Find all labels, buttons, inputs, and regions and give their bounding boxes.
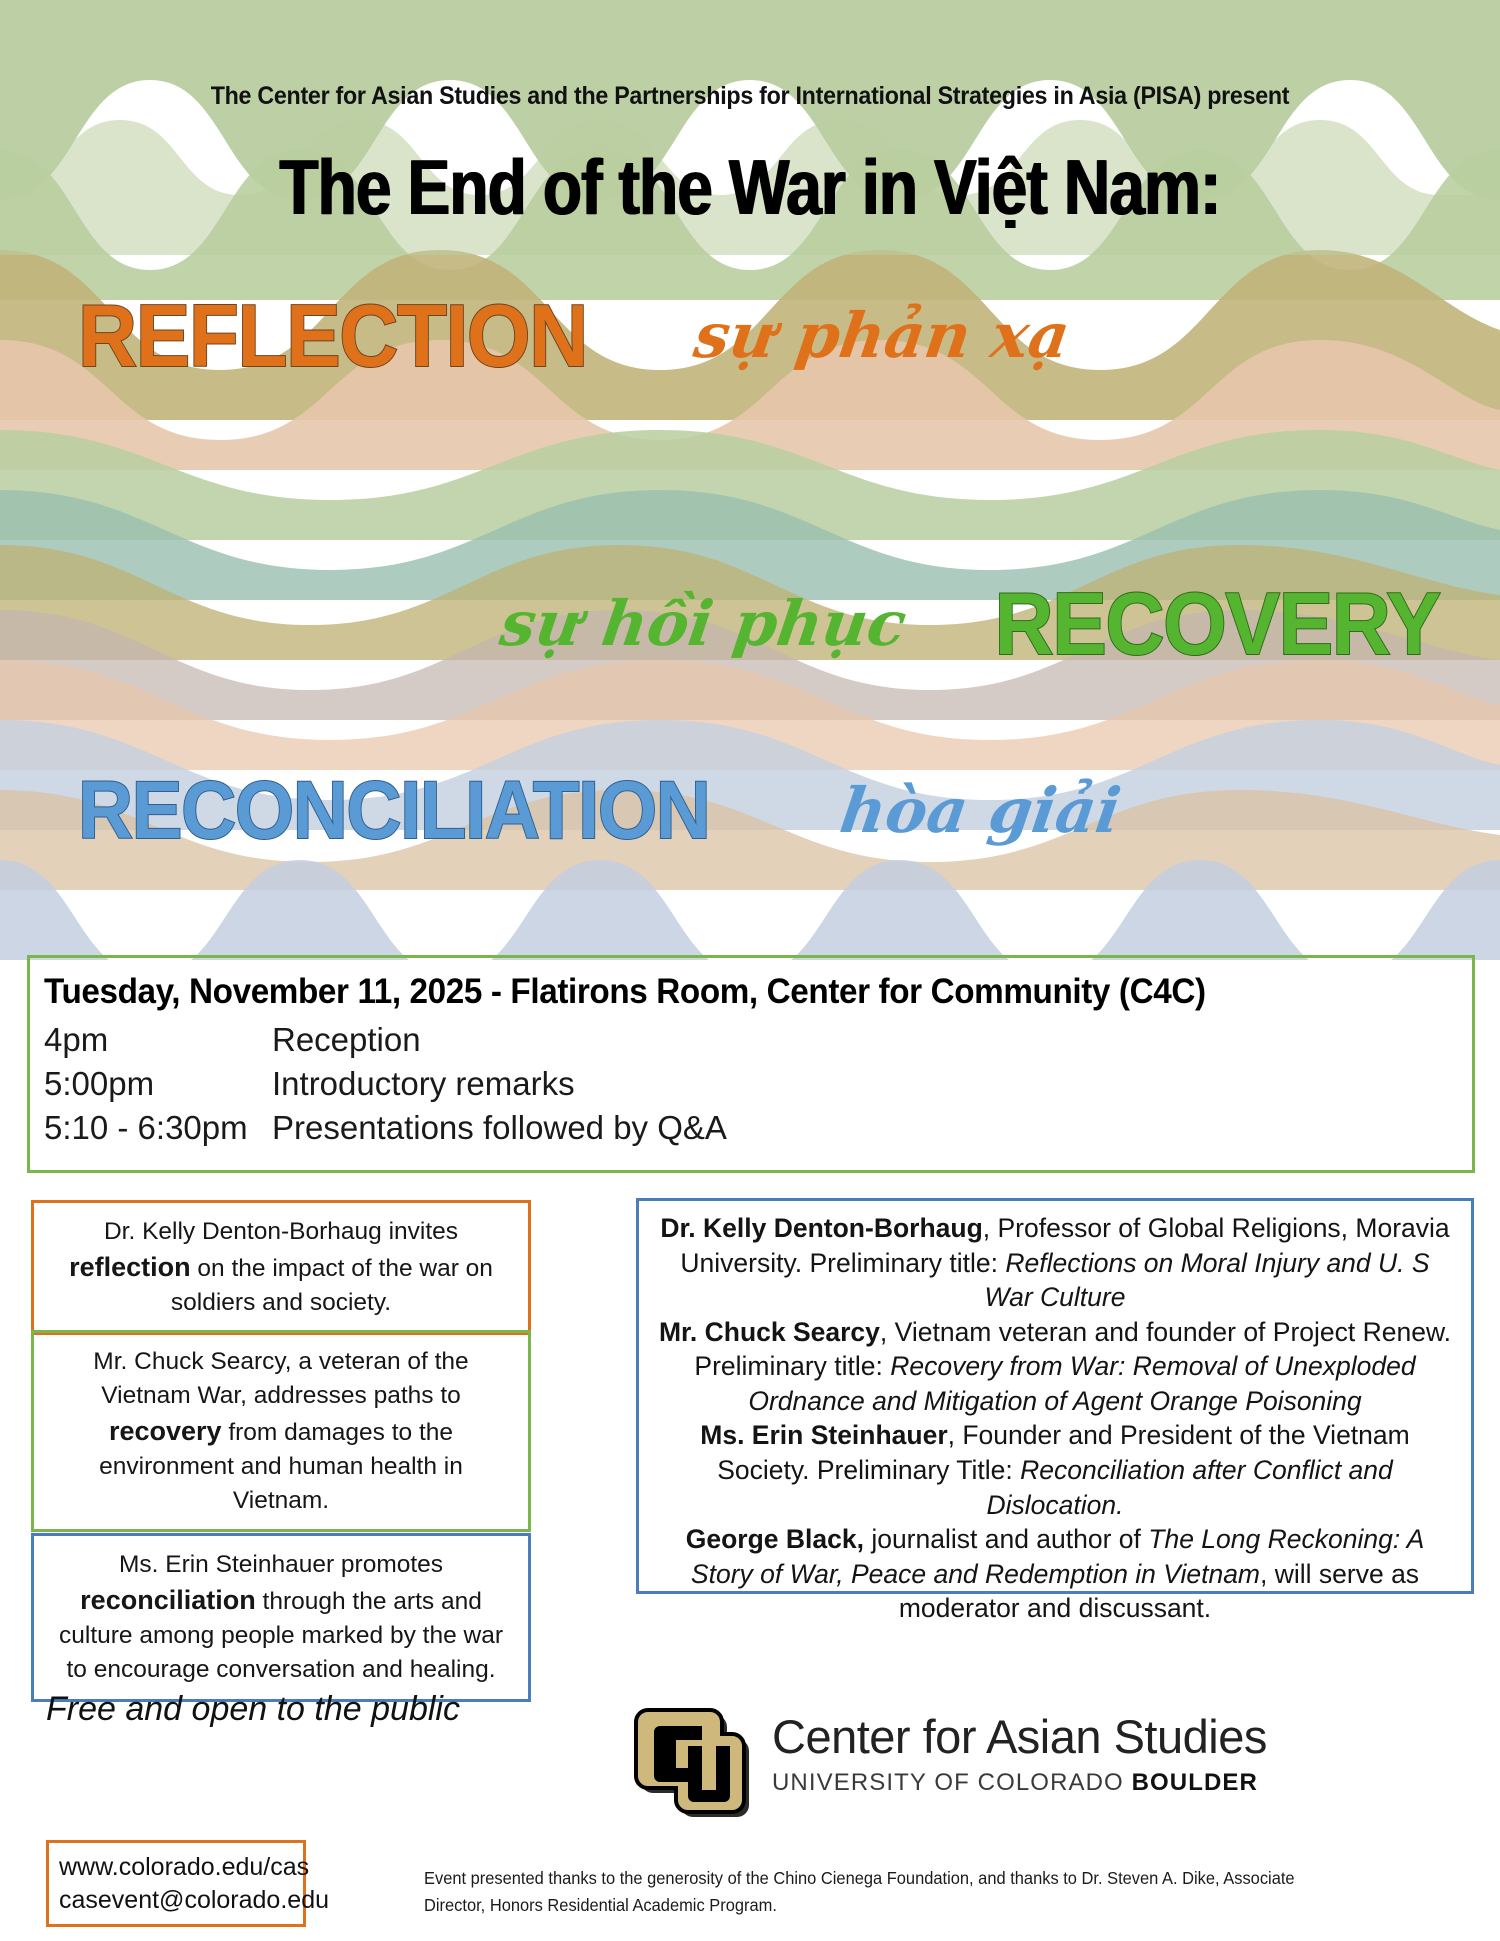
contact-email[interactable]: casevent@colorado.edu bbox=[59, 1884, 293, 1917]
speaker-name: George Black, bbox=[686, 1524, 864, 1554]
theme-word-reflection-vietnamese: sự phản xạ bbox=[691, 305, 1074, 367]
page-title: The End of the War in Việt Nam: bbox=[135, 148, 1365, 226]
speaker-entry: Mr. Chuck Searcy, Vietnam veteran and fo… bbox=[653, 1315, 1457, 1419]
schedule-row: 4pm Reception bbox=[44, 1018, 1472, 1062]
center-title: Center for Asian Studies bbox=[772, 1713, 1267, 1761]
schedule-row: 5:00pm Introductory remarks bbox=[44, 1062, 1472, 1106]
speaker-entry: George Black, journalist and author of T… bbox=[653, 1522, 1457, 1626]
contact-website[interactable]: www.colorado.edu/cas bbox=[59, 1851, 293, 1884]
theme-word-reconciliation-vietnamese: hòa giải bbox=[837, 780, 1125, 842]
speaker-name: Dr. Kelly Denton-Borhaug bbox=[660, 1213, 982, 1243]
summary-keyword: reflection bbox=[69, 1252, 191, 1282]
schedule-row: 5:10 - 6:30pm Presentations followed by … bbox=[44, 1106, 1472, 1150]
event-poster: The Center for Asian Studies and the Par… bbox=[0, 0, 1500, 1941]
summary-text-before: Ms. Erin Steinhauer promotes bbox=[119, 1551, 443, 1578]
cu-branding-text: Center for Asian Studies UNIVERSITY OF C… bbox=[772, 1713, 1267, 1797]
speaker-entry: Dr. Kelly Denton-Borhaug, Professor of G… bbox=[653, 1211, 1457, 1315]
summary-box-recovery: Mr. Chuck Searcy, a veteran of the Vietn… bbox=[31, 1330, 531, 1532]
speaker-role: journalist and author of bbox=[864, 1524, 1148, 1554]
theme-row-recovery: sự hồi phục RECOVERY bbox=[0, 580, 1500, 668]
schedule-time: 5:10 - 6:30pm bbox=[44, 1106, 272, 1150]
theme-word-reconciliation-english: RECONCILIATION bbox=[78, 770, 709, 852]
summary-text-before: Mr. Chuck Searcy, a veteran of the Vietn… bbox=[93, 1348, 468, 1409]
university-prefix: UNIVERSITY OF COLORADO bbox=[772, 1769, 1132, 1796]
schedule-box: Tuesday, November 11, 2025 - Flatirons R… bbox=[27, 955, 1475, 1173]
theme-row-reconciliation: RECONCILIATION hòa giải bbox=[0, 770, 1500, 852]
theme-word-recovery-english: RECOVERY bbox=[995, 580, 1440, 668]
theme-row-reflection: REFLECTION sự phản xạ bbox=[0, 292, 1500, 380]
theme-word-recovery-vietnamese: sự hồi phục bbox=[497, 593, 910, 655]
university-line: UNIVERSITY OF COLORADO BOULDER bbox=[772, 1769, 1267, 1797]
schedule-rows: 4pm Reception 5:00pm Introductory remark… bbox=[44, 1018, 1472, 1150]
summary-keyword: reconciliation bbox=[80, 1585, 256, 1615]
schedule-time: 5:00pm bbox=[44, 1062, 272, 1106]
sponsor-credit: Event presented thanks to the generosity… bbox=[424, 1865, 1345, 1919]
contact-box: www.colorado.edu/cas casevent@colorado.e… bbox=[46, 1840, 306, 1927]
schedule-time: 4pm bbox=[44, 1018, 272, 1062]
speaker-talk-title: Reconciliation after Conflict and Disloc… bbox=[987, 1455, 1393, 1520]
schedule-description: Introductory remarks bbox=[272, 1062, 1472, 1106]
schedule-description: Reception bbox=[272, 1018, 1472, 1062]
university-campus: BOULDER bbox=[1132, 1769, 1258, 1796]
speaker-name: Ms. Erin Steinhauer bbox=[700, 1420, 947, 1450]
theme-word-reflection-english: REFLECTION bbox=[78, 292, 587, 380]
free-admission-note: Free and open to the public bbox=[46, 1690, 460, 1729]
summary-text-before: Dr. Kelly Denton-Borhaug invites bbox=[104, 1218, 458, 1245]
speakers-box: Dr. Kelly Denton-Borhaug, Professor of G… bbox=[636, 1198, 1474, 1594]
schedule-description: Presentations followed by Q&A bbox=[272, 1106, 1472, 1150]
speaker-entry: Ms. Erin Steinhauer, Founder and Preside… bbox=[653, 1418, 1457, 1522]
speaker-talk-title: Reflections on Moral Injury and U. S War… bbox=[985, 1248, 1430, 1313]
presenter-line: The Center for Asian Studies and the Par… bbox=[53, 82, 1448, 111]
cu-branding: Center for Asian Studies UNIVERSITY OF C… bbox=[634, 1692, 1267, 1818]
cu-logo-icon bbox=[634, 1692, 752, 1818]
summary-text-after: on the impact of the war on soldiers and… bbox=[171, 1255, 493, 1316]
summary-box-reconciliation: Ms. Erin Steinhauer promotes reconciliat… bbox=[31, 1533, 531, 1702]
summary-keyword: recovery bbox=[109, 1416, 222, 1446]
summary-box-reflection: Dr. Kelly Denton-Borhaug invites reflect… bbox=[31, 1200, 531, 1335]
speaker-name: Mr. Chuck Searcy bbox=[659, 1317, 880, 1347]
schedule-headline: Tuesday, November 11, 2025 - Flatirons R… bbox=[44, 972, 1401, 1012]
